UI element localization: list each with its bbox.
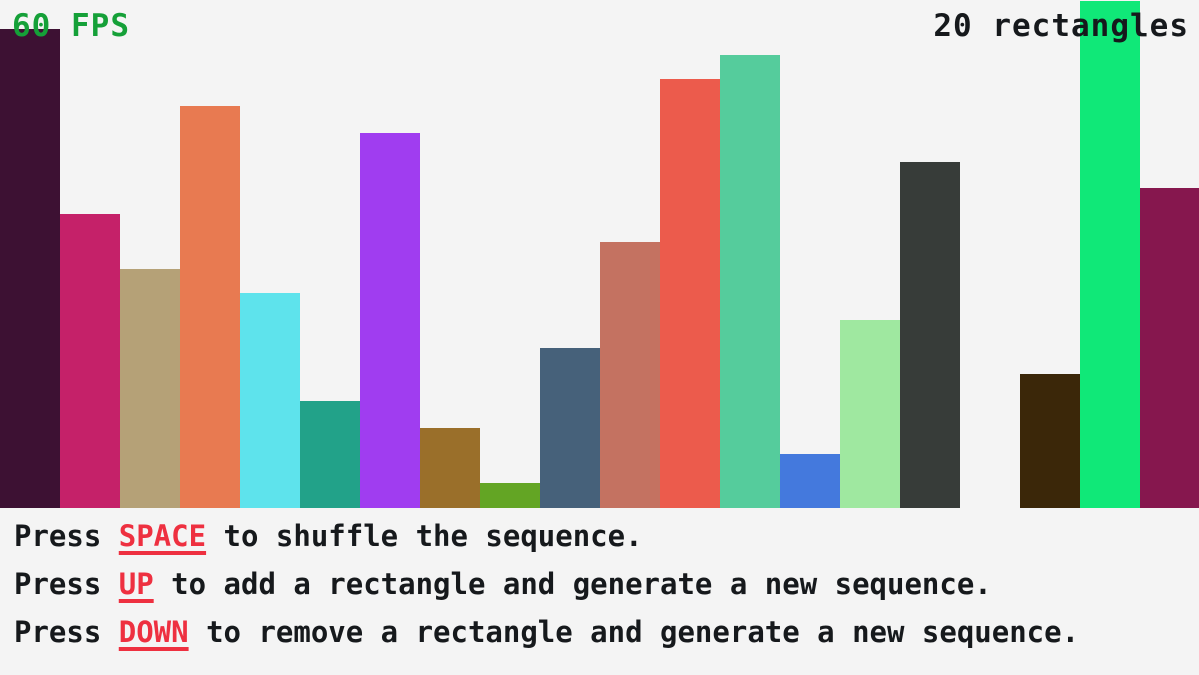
instruction-prefix: Press: [14, 615, 119, 649]
instruction-prefix: Press: [14, 567, 119, 601]
bar-13: [720, 55, 780, 508]
bar-20: [1140, 188, 1199, 508]
bar-10: [540, 348, 600, 508]
bar-16: [900, 162, 960, 508]
bar-9: [480, 483, 540, 508]
key-space[interactable]: SPACE: [119, 519, 206, 553]
bar-18: [1020, 374, 1080, 508]
instruction-line-1: Press SPACE to shuffle the sequence.: [14, 512, 1199, 560]
instruction-suffix: to add a rectangle and generate a new se…: [154, 567, 992, 601]
key-down[interactable]: DOWN: [119, 615, 189, 649]
bar-5: [240, 293, 300, 508]
instruction-suffix: to remove a rectangle and generate a new…: [189, 615, 1079, 649]
bar-8: [420, 428, 480, 508]
bar-12: [660, 79, 720, 508]
bar-11: [600, 242, 660, 508]
bar-2: [60, 214, 120, 508]
bar-15: [840, 320, 900, 508]
instruction-line-3: Press DOWN to remove a rectangle and gen…: [14, 608, 1199, 656]
bar-3: [120, 269, 180, 508]
bar-1: [0, 29, 60, 508]
instruction-line-2: Press UP to add a rectangle and generate…: [14, 560, 1199, 608]
bar-7: [360, 133, 420, 508]
key-up[interactable]: UP: [119, 567, 154, 601]
bar-4: [180, 106, 240, 508]
rectangle-canvas[interactable]: [0, 0, 1199, 508]
instructions-panel: Press SPACE to shuffle the sequence.Pres…: [0, 512, 1199, 656]
fps-counter: 60 FPS: [12, 11, 130, 42]
bar-14: [780, 454, 840, 508]
bar-6: [300, 401, 360, 508]
instruction-suffix: to shuffle the sequence.: [206, 519, 643, 553]
rectangle-count-label: 20 rectangles: [933, 11, 1189, 42]
instruction-prefix: Press: [14, 519, 119, 553]
bar-19: [1080, 1, 1140, 508]
app-root: 60 FPS 20 rectangles Press SPACE to shuf…: [0, 0, 1199, 675]
